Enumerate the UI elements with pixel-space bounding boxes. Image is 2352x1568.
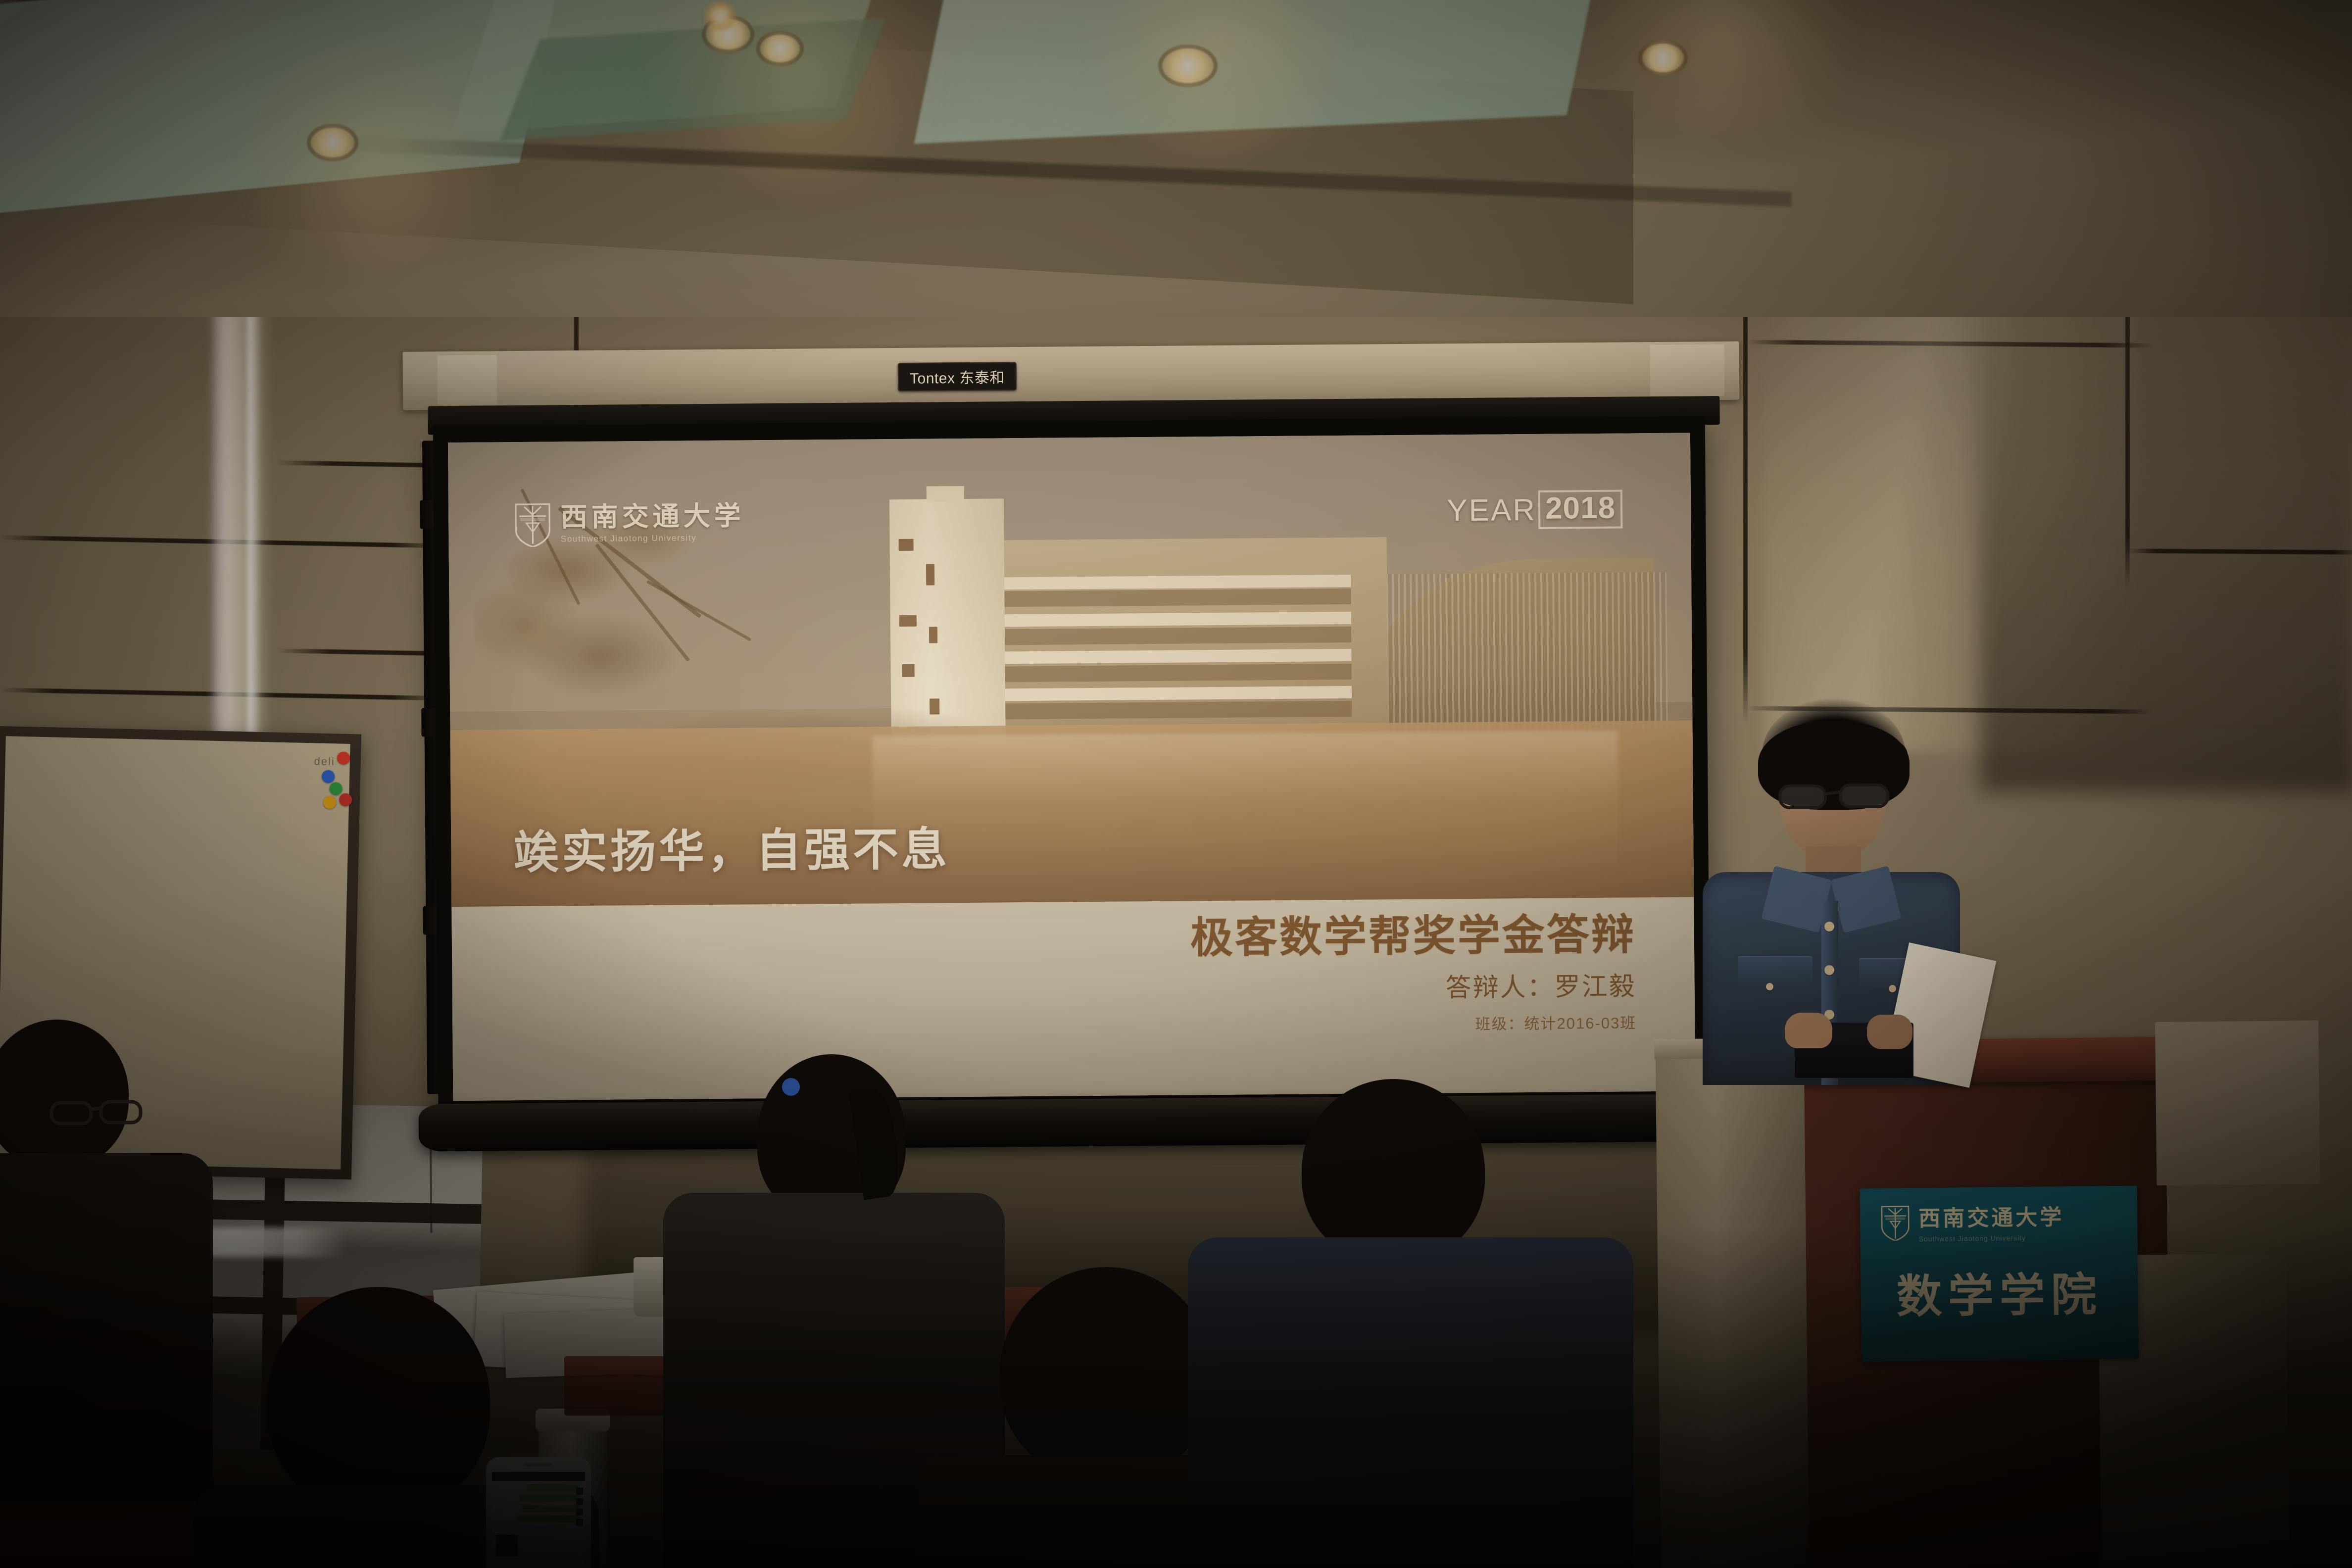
presentation-slide[interactable]: 西南交通大学 Southwest Jiaotong University YEA… (448, 433, 1695, 1101)
screen-frame: 西南交通大学 Southwest Jiaotong University YEA… (433, 416, 1711, 1114)
slide-year-block: YEAR 2018 (1447, 490, 1622, 530)
ceiling-downlight-icon (307, 124, 358, 161)
smartphone[interactable] (486, 1457, 591, 1568)
slide-motto: 竢实扬华，自强不息 (513, 813, 950, 882)
audience-member (1227, 1079, 1574, 1568)
glasses-icon (49, 1099, 144, 1133)
plaque-university-cn: 西南交通大学 (1918, 1199, 2064, 1232)
podium-front-panel (1656, 1051, 1810, 1568)
podium-plaque: 西南交通大学 Southwest Jiaotong University 数学学… (1860, 1186, 2139, 1362)
phone-screen[interactable] (492, 1472, 585, 1568)
photo-tower-cap (927, 486, 964, 502)
slide-university-logo: 西南交通大学 Southwest Jiaotong University (513, 499, 745, 547)
whiteboard-brand-label: deli (314, 755, 335, 768)
slide-class: 班级：统计2016-03班 (1475, 1010, 1636, 1034)
pocket-button-icon (1766, 983, 1773, 990)
slide-year-value: 2018 (1538, 490, 1623, 529)
university-shield-icon (1880, 1204, 1911, 1241)
audience-member (0, 1020, 208, 1465)
slide-logo-university-cn: 西南交通大学 (560, 503, 744, 531)
presenter-person (1673, 698, 1990, 1074)
plaque-logo-row: 西南交通大学 Southwest Jiaotong University (1880, 1199, 2129, 1243)
jacket-button-icon (1824, 922, 1834, 931)
university-shield-icon (513, 501, 552, 547)
presenter-hand-right (1867, 1015, 1912, 1049)
screen-brand-badge: Tontex 东泰和 (898, 362, 1017, 392)
screen-mount-bracket (1650, 344, 1724, 396)
ceiling-downlight-icon (756, 31, 804, 66)
pocket-button-icon (1889, 985, 1896, 992)
ceiling-light-glow (233, 49, 510, 277)
slide-year-label: YEAR (1447, 492, 1536, 528)
jacket-button-icon (1824, 965, 1834, 975)
plaque-university-en: Southwest Jiaotong University (1919, 1233, 2064, 1243)
podium-equipment-box[interactable] (2155, 1021, 2320, 1185)
photo-reflection (873, 731, 1619, 889)
jacket-chest-pocket (1738, 956, 1813, 986)
slide-title-band: 极客数学帮奖学金答辩 答辩人：罗江毅 班级：统计2016-03班 (451, 897, 1695, 1101)
slide-title: 极客数学帮奖学金答辩 (1190, 912, 1636, 961)
slide-presenter: 答辩人：罗江毅 (1445, 965, 1636, 1004)
wall-shadow (1980, 247, 2352, 792)
ceiling-downlight-icon (1638, 40, 1688, 76)
screen-mount-bracket (438, 355, 497, 405)
hair-clip-icon (782, 1078, 800, 1096)
projector-screen: Tontex 东泰和 (433, 342, 1746, 1174)
ceiling-downlight-icon (1158, 45, 1218, 87)
glasses-icon (1777, 781, 1891, 811)
phone-nav-bar (492, 1472, 585, 1481)
plaque-department: 数学学院 (1869, 1258, 2129, 1326)
screenshot-root: deli Tontex 东泰和 (0, 0, 2352, 1568)
ceiling-downlight-icon (703, 1, 737, 31)
podium[interactable]: 西南交通大学 Southwest Jiaotong University 数学学… (1660, 1036, 2190, 1568)
presenter-hand-left (1785, 1013, 1832, 1048)
phone-speaker-icon (525, 1463, 552, 1467)
slide-logo-university-en: Southwest Jiaotong University (561, 534, 745, 543)
photo-building-ribs (1369, 572, 1668, 733)
presenter-fringe (1761, 728, 1908, 781)
